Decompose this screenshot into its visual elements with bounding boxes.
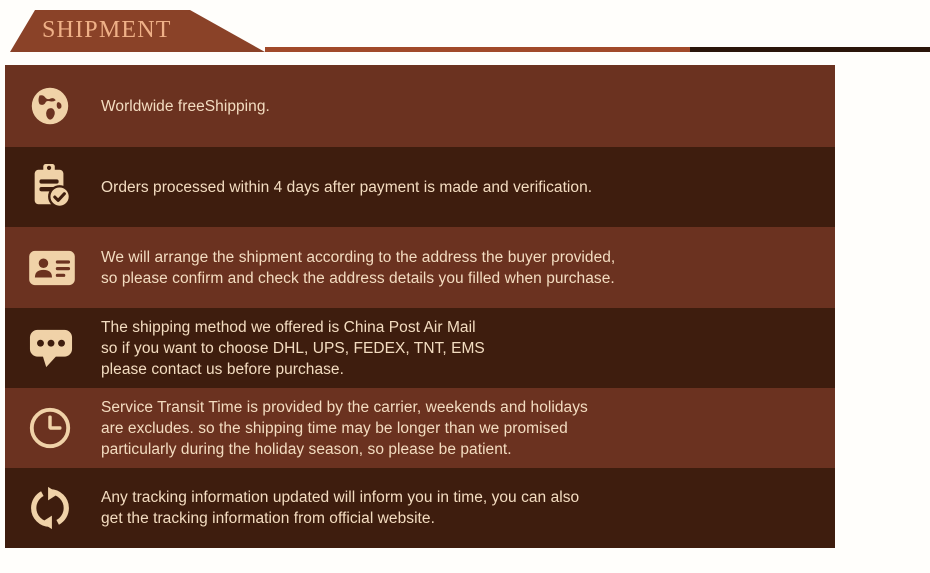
info-row-worldwide-shipping: Worldwide freeShipping. bbox=[5, 65, 835, 147]
header-banner: SHIPMENT bbox=[0, 0, 930, 62]
info-row-text: Service Transit Time is provided by the … bbox=[89, 397, 835, 460]
banner-tab-shape bbox=[10, 10, 265, 52]
info-row-text: Worldwide freeShipping. bbox=[89, 96, 835, 117]
info-row-text: The shipping method we offered is China … bbox=[89, 317, 835, 380]
info-row-address-confirmation: We will arrange the shipment according t… bbox=[5, 227, 835, 308]
refresh-arrows-icon bbox=[27, 485, 89, 531]
banner-shape bbox=[0, 0, 930, 62]
info-row-shipping-method: The shipping method we offered is China … bbox=[5, 308, 835, 388]
info-row-transit-time: Service Transit Time is provided by the … bbox=[5, 388, 835, 468]
info-row-text: Any tracking information updated will in… bbox=[89, 487, 835, 529]
id-card-icon bbox=[27, 249, 89, 287]
banner-rule-light bbox=[265, 47, 690, 52]
banner-rule-dark bbox=[690, 47, 930, 52]
clock-icon bbox=[27, 405, 89, 451]
info-row-tracking-info: Any tracking information updated will in… bbox=[5, 468, 835, 548]
info-row-order-processing: Orders processed within 4 days after pay… bbox=[5, 147, 835, 227]
speech-bubble-icon bbox=[27, 326, 89, 370]
shipment-info-panel: Worldwide freeShipping. Orders processed… bbox=[5, 65, 835, 548]
globe-icon bbox=[27, 83, 89, 129]
info-row-text: We will arrange the shipment according t… bbox=[89, 247, 835, 289]
clipboard-check-icon bbox=[27, 162, 89, 212]
info-row-text: Orders processed within 4 days after pay… bbox=[89, 177, 835, 198]
